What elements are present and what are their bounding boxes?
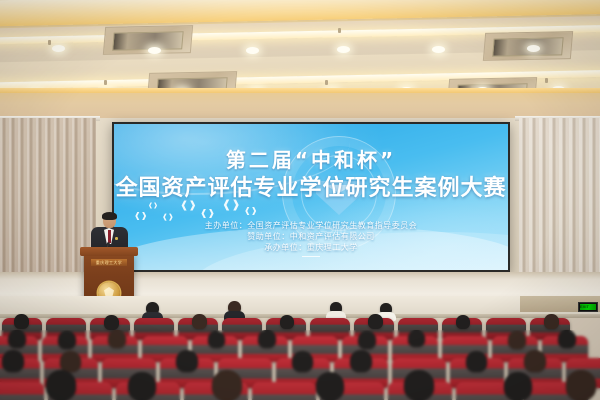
downlight-icon bbox=[337, 46, 350, 53]
curtain-folds bbox=[0, 118, 96, 298]
audience-person bbox=[456, 315, 470, 329]
organizer-info: 主办单位：全国资产评估专业学位研究生教育指导委员会 赞助单位：中和资产评估有限公… bbox=[114, 220, 508, 253]
sprinkler-icon bbox=[48, 40, 51, 45]
podium-name-plate: 重庆理工大学 bbox=[91, 259, 127, 266]
bird-icon: ❰❱ bbox=[180, 201, 197, 211]
audience-person bbox=[128, 372, 156, 400]
audience-person bbox=[404, 370, 434, 400]
audience-person bbox=[524, 350, 546, 372]
speaker-lapel-pin-icon bbox=[115, 237, 118, 240]
speaker-tie bbox=[108, 230, 111, 243]
auditorium-seat bbox=[0, 382, 44, 400]
podium-top-surface bbox=[80, 247, 138, 256]
auditorium-seat bbox=[252, 382, 316, 400]
curtain-left bbox=[0, 118, 96, 298]
audience-person bbox=[176, 350, 198, 372]
audience-person bbox=[508, 331, 526, 349]
auditorium-photo: — 2011 — ❰❱ ❰❱ ❰❱ ❰❱ ❰❱ ❰❱ ❰❱ 第二届“中和杯” 全… bbox=[0, 0, 600, 400]
audience-person bbox=[292, 351, 313, 372]
audience-person bbox=[192, 314, 207, 329]
audience-person bbox=[280, 315, 294, 329]
organizer-line-host: 主办单位：全国资产评估专业学位研究生教育指导委员会 bbox=[114, 220, 508, 231]
audience-person bbox=[504, 372, 532, 400]
audience-person bbox=[46, 370, 76, 400]
bird-icon: ❰❱ bbox=[148, 203, 158, 209]
organizer-line-sponsor: 赞助单位：中和资产评估有限公司 bbox=[114, 231, 508, 242]
audience-person bbox=[2, 350, 24, 372]
audience-person bbox=[58, 331, 76, 349]
audience-person bbox=[316, 372, 344, 400]
audience-person bbox=[208, 331, 225, 348]
screen-content: — 2011 — ❰❱ ❰❱ ❰❱ ❰❱ ❰❱ ❰❱ ❰❱ 第二届“中和杯” 全… bbox=[114, 124, 508, 270]
audience-person bbox=[350, 350, 372, 372]
audience-person bbox=[212, 370, 242, 400]
sprinkler-icon bbox=[325, 80, 328, 85]
organizer-line-undertaker: 承办单位：重庆理工大学 bbox=[114, 242, 508, 253]
led-display-screen[interactable]: — 2011 — ❰❱ ❰❱ ❰❱ ❰❱ ❰❱ ❰❱ ❰❱ 第二届“中和杯” 全… bbox=[112, 122, 510, 272]
audience-person bbox=[558, 330, 576, 348]
audience-area bbox=[0, 296, 600, 400]
sprinkler-icon bbox=[338, 28, 341, 33]
audience-person bbox=[408, 330, 425, 347]
audience-person bbox=[104, 315, 119, 330]
audience-person bbox=[258, 330, 276, 348]
exit-sign: EXIT bbox=[578, 302, 598, 312]
speaker-hair bbox=[102, 212, 117, 220]
sprinkler-icon bbox=[104, 80, 107, 85]
downlight-icon bbox=[52, 45, 65, 52]
downlight-icon bbox=[527, 45, 540, 52]
event-title-line-1: 第二届“中和杯” bbox=[114, 144, 508, 173]
audience-person bbox=[60, 351, 81, 372]
bird-icon: ❰❱ bbox=[200, 209, 215, 218]
event-title-line-2: 全国资产评估专业学位研究生案例大赛 bbox=[114, 170, 508, 202]
downlight-icon bbox=[432, 46, 445, 53]
audience-person bbox=[358, 331, 376, 349]
bird-icon: ❰❱ bbox=[244, 207, 257, 215]
audience-person bbox=[544, 314, 559, 329]
title-underline bbox=[302, 256, 320, 257]
audience-person bbox=[466, 351, 487, 372]
audience-person bbox=[108, 330, 126, 348]
front-table-row bbox=[0, 296, 600, 318]
bird-icon: ❰❱ bbox=[134, 212, 147, 220]
exit-sign-label: EXIT bbox=[580, 304, 596, 310]
audience-person bbox=[14, 314, 29, 329]
audience-person bbox=[368, 314, 383, 329]
downlight-icon bbox=[246, 47, 259, 54]
audience-person bbox=[8, 330, 26, 348]
sprinkler-icon bbox=[545, 78, 548, 83]
downlight-icon bbox=[148, 47, 161, 54]
ceiling bbox=[0, 0, 600, 92]
audience-person bbox=[566, 370, 596, 400]
